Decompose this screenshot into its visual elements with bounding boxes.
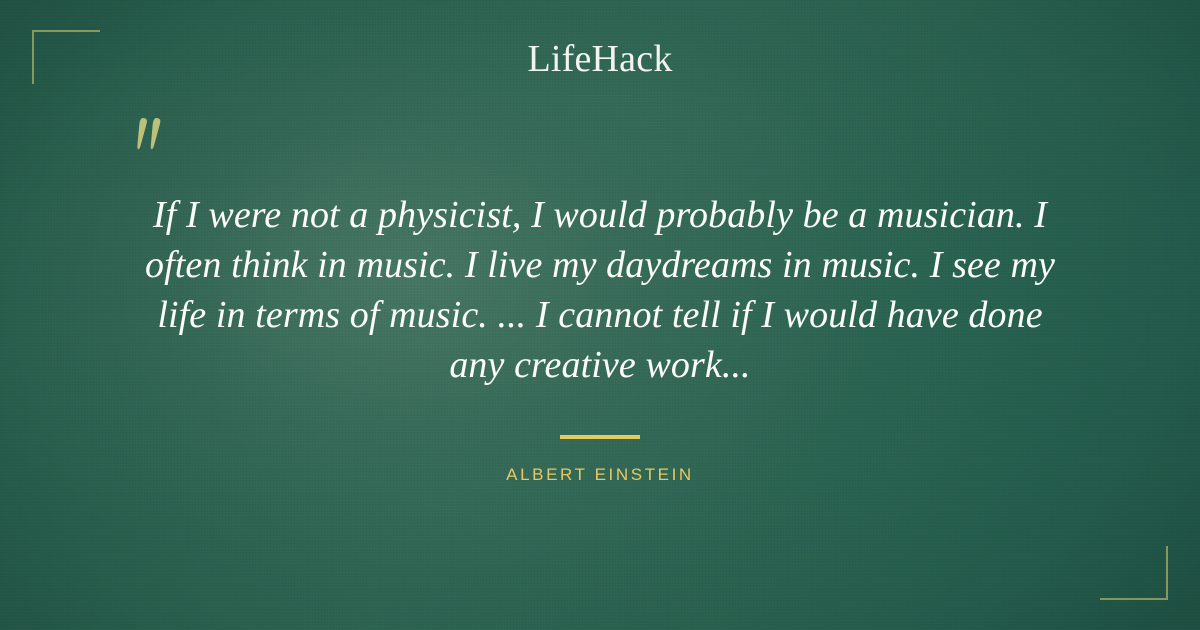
quote-attribution: ALBERT EINSTEIN	[0, 465, 1200, 485]
quote-line: any creative work...	[90, 340, 1110, 390]
gold-divider	[560, 435, 640, 439]
quote-block: If I were not a physicist, I would proba…	[90, 190, 1110, 390]
quote-line: often think in music. I live my daydream…	[90, 240, 1110, 290]
brand-logo[interactable]: LifeHack	[0, 40, 1200, 78]
quote-line: If I were not a physicist, I would proba…	[90, 190, 1110, 240]
quote-card: LifeHack If I were not a physicist, I wo…	[0, 0, 1200, 630]
quote-line: life in terms of music. ... I cannot tel…	[90, 290, 1110, 340]
divider-wrap	[0, 435, 1200, 453]
double-quote-icon	[128, 112, 184, 168]
quote-text: If I were not a physicist, I would proba…	[90, 190, 1110, 390]
